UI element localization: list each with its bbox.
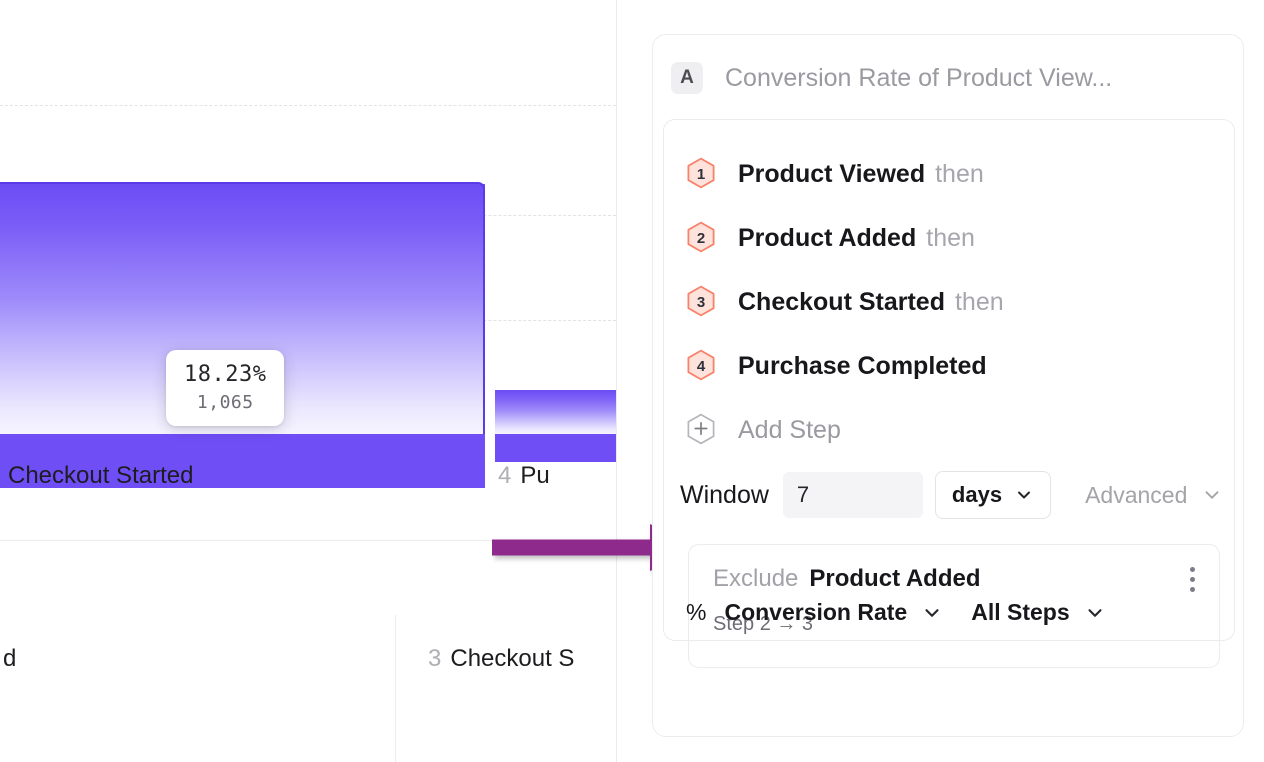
chevron-down-icon <box>1084 602 1106 624</box>
kebab-dot <box>1190 577 1195 582</box>
step-number: 1 <box>697 167 705 182</box>
step-number-hexagon-icon: 1 <box>686 157 716 191</box>
step-connector: then <box>935 160 984 189</box>
step-number-hexagon-icon: 2 <box>686 221 716 255</box>
funnel-chart: 18.23% 1,065 Checkout Started 4Pu <box>0 0 616 540</box>
axis-label-text: Pu <box>520 462 549 489</box>
metric-title-left[interactable]: d <box>0 645 16 673</box>
funnel-steps-card: 1 Product Viewed then 2 Product Added th… <box>663 119 1235 641</box>
kebab-menu-icon[interactable] <box>1190 567 1195 592</box>
add-step-button[interactable]: Add Step <box>664 398 1234 462</box>
panel-header: A Conversion Rate of Product View... <box>653 35 1243 121</box>
metric-title-index: 3 <box>428 645 441 672</box>
chevron-down-icon <box>1014 485 1034 505</box>
bar-solid-base <box>495 434 616 462</box>
window-label: Window <box>680 481 769 510</box>
chevron-down-icon <box>921 602 943 624</box>
exclude-rule-header: Exclude Product Added <box>713 565 1199 593</box>
funnel-step-3[interactable]: 3 Checkout Started then <box>664 270 1234 334</box>
bar-gradient-body <box>495 390 616 434</box>
window-row: Window days Advanced <box>664 464 1234 526</box>
advanced-label: Advanced <box>1085 482 1187 509</box>
step-number: 3 <box>697 295 705 310</box>
axis-label-checkout-started[interactable]: Checkout Started <box>0 462 193 490</box>
funnel-chart-panel: 18.23% 1,065 Checkout Started 4Pu d <box>0 0 616 762</box>
series-letter-badge[interactable]: A <box>671 62 703 94</box>
funnel-step-2[interactable]: 2 Product Added then <box>664 206 1234 270</box>
metric-title-right[interactable]: 3Checkout S <box>428 645 574 673</box>
step-event-name: Purchase Completed <box>738 352 987 381</box>
window-unit-dropdown[interactable]: days <box>935 471 1051 519</box>
step-event-name: Checkout Started <box>738 288 945 317</box>
kebab-dot <box>1190 587 1195 592</box>
query-builder-panel: A Conversion Rate of Product View... 1 P… <box>652 34 1244 737</box>
steps-scope-dropdown[interactable]: All Steps <box>971 599 1105 626</box>
app-root: 18.23% 1,065 Checkout Started 4Pu d <box>0 0 1264 762</box>
funnel-bar-purchase-completed[interactable] <box>495 390 616 434</box>
percent-icon: % <box>686 599 706 626</box>
window-unit-label: days <box>952 482 1002 508</box>
window-value-input[interactable] <box>783 472 923 518</box>
steps-scope-label: All Steps <box>971 599 1069 626</box>
panel-footer: % Conversion Rate All Steps <box>664 599 1234 626</box>
step-event-name: Product Added <box>738 224 916 253</box>
advanced-dropdown[interactable]: Advanced <box>1085 482 1223 509</box>
bar-tooltip: 18.23% 1,065 <box>166 350 284 426</box>
exclude-event-name: Product Added <box>809 565 980 593</box>
tooltip-percent: 18.23% <box>184 362 266 387</box>
step-number: 2 <box>697 231 705 246</box>
step-event-name: Product Viewed <box>738 160 925 189</box>
axis-label-purchase-completed[interactable]: 4Pu <box>498 462 550 490</box>
step-number-hexagon-icon: 3 <box>686 285 716 319</box>
axis-label-text: Checkout Started <box>8 462 193 489</box>
chevron-down-icon <box>1201 484 1223 506</box>
step-number: 4 <box>697 359 705 374</box>
gridline <box>0 105 616 106</box>
query-title[interactable]: Conversion Rate of Product View... <box>725 64 1112 93</box>
funnel-step-1[interactable]: 1 Product Viewed then <box>664 142 1234 206</box>
add-step-label: Add Step <box>738 416 841 445</box>
metric-title-text: Checkout S <box>450 645 574 672</box>
axis-label-index: 4 <box>498 462 511 489</box>
step-connector: then <box>926 224 975 253</box>
metric-strip-divider <box>395 615 396 762</box>
metric-type-dropdown[interactable]: Conversion Rate <box>724 599 943 626</box>
funnel-step-4[interactable]: 4 Purchase Completed <box>664 334 1234 398</box>
metric-title-text: d <box>3 645 16 672</box>
step-connector: then <box>955 288 1004 317</box>
metric-type-label: Conversion Rate <box>724 599 907 626</box>
tooltip-count: 1,065 <box>184 392 266 413</box>
kebab-dot <box>1190 567 1195 572</box>
step-number-hexagon-icon: 4 <box>686 349 716 383</box>
plus-hexagon-icon <box>686 413 716 447</box>
main-vertical-divider <box>616 0 617 762</box>
exclude-prefix-label: Exclude <box>713 565 798 593</box>
